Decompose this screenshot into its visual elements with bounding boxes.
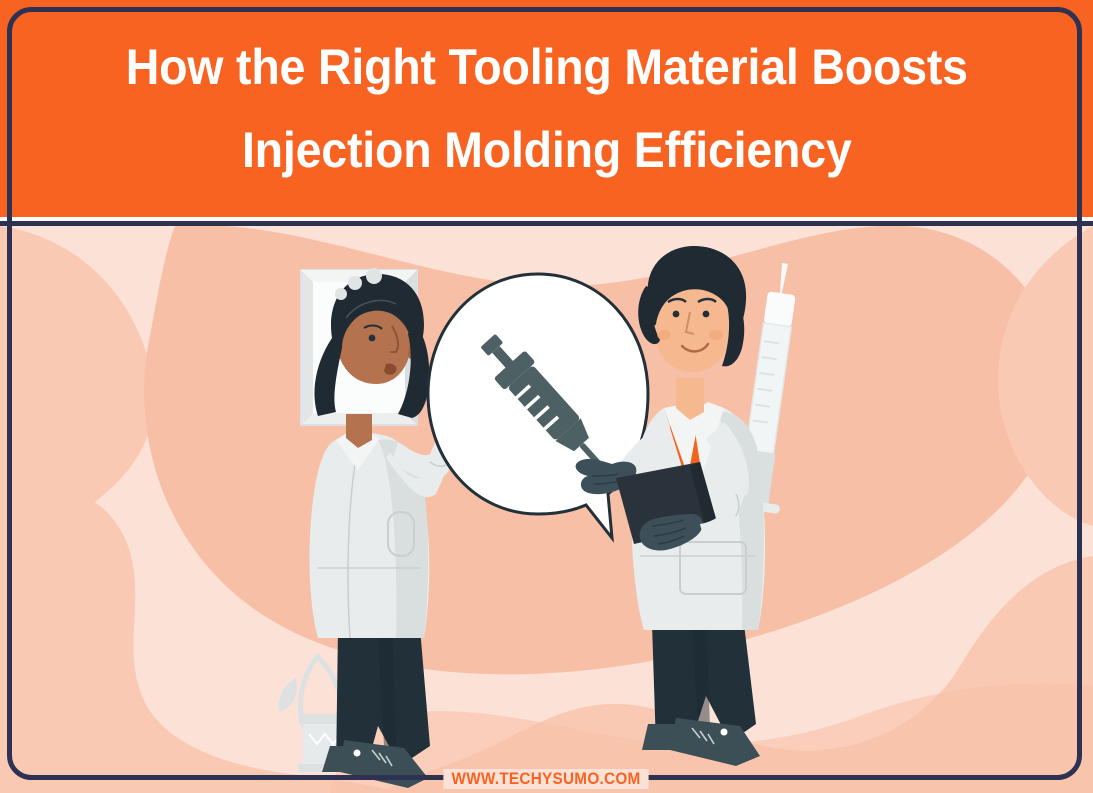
header-divider-rule (0, 221, 1093, 226)
male-eye-right (703, 311, 710, 318)
footer-watermark: WWW.TECHYSUMO.COM (0, 765, 1093, 793)
male-eye-left (673, 311, 680, 318)
illustration-area (0, 226, 1093, 793)
female-eye (369, 335, 376, 342)
blog-banner: How the Right Tooling Material Boosts In… (0, 0, 1093, 793)
header-banner (0, 0, 1093, 217)
watermark-text: WWW.TECHYSUMO.COM (444, 769, 649, 789)
